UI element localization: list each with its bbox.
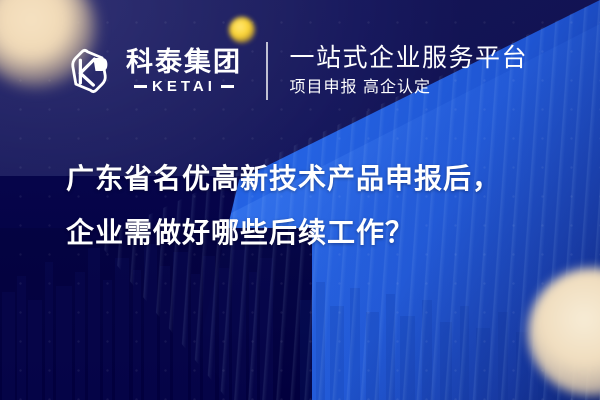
brand-logo[interactable]: 科泰集团 KETAI xyxy=(62,44,242,98)
tagline-block: 一站式企业服务平台 项目申报 高企认定 xyxy=(290,44,529,97)
headline-line-1: 广东省名优高新技术产品申报后， xyxy=(66,152,536,206)
vertical-divider xyxy=(266,42,268,100)
brand-name-en-row: KETAI xyxy=(126,79,242,94)
promo-banner: 科泰集团 KETAI 一站式企业服务平台 项目申报 高企认定 广东省名优高新技术… xyxy=(0,0,600,400)
brand-name-en: KETAI xyxy=(152,79,216,94)
banner-header: 科泰集团 KETAI 一站式企业服务平台 项目申报 高企认定 xyxy=(62,36,528,106)
brand-name-cn: 科泰集团 xyxy=(126,48,242,76)
ketai-diamond-k-logo-icon xyxy=(62,44,116,98)
tagline-main: 一站式企业服务平台 xyxy=(290,44,529,73)
tagline-sub: 项目申报 高企认定 xyxy=(290,79,529,97)
headline-line-2: 企业需做好哪些后续工作？ xyxy=(66,206,536,260)
headline-block: 广东省名优高新技术产品申报后， 企业需做好哪些后续工作？ xyxy=(66,152,536,260)
dash-right-icon xyxy=(221,85,234,88)
brand-wordmark: 科泰集团 KETAI xyxy=(126,48,242,93)
dash-left-icon xyxy=(134,85,147,88)
